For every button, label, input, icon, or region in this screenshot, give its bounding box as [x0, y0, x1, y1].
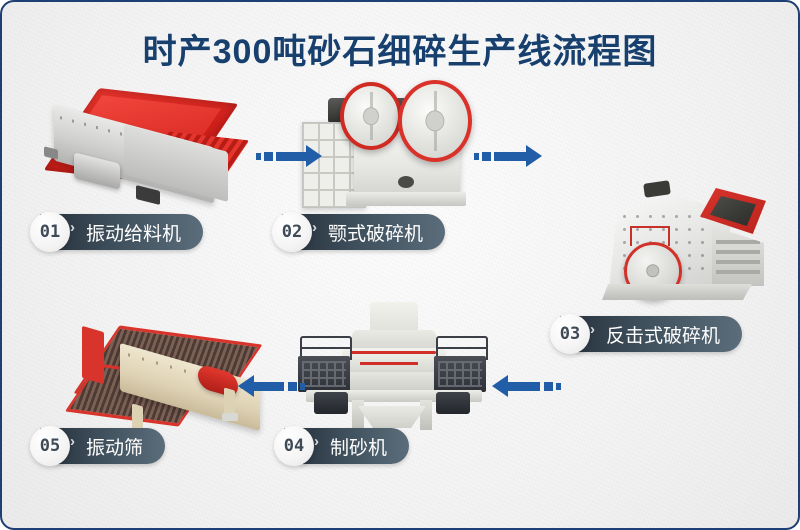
- step-badge-01: 01: [30, 212, 70, 252]
- screen-foot-rear: [222, 413, 238, 421]
- arrow-jaw-to-impact: [474, 145, 542, 167]
- page-title: 时产300吨砂石细碎生产线流程图: [2, 24, 798, 73]
- vsi-red-stripe: [350, 351, 436, 354]
- vsi-discharge-cone: [358, 406, 426, 428]
- arrow-shaft: [276, 152, 306, 161]
- arrow-sand-to-screen: [238, 375, 308, 397]
- screen-end-rail: [82, 326, 104, 384]
- chevron-right-icon: ›: [590, 321, 595, 338]
- chevron-right-icon: ›: [70, 219, 75, 236]
- arrow-head: [492, 375, 508, 397]
- step-label-text-04: 制砂机: [330, 433, 387, 460]
- jaw-flywheel-rear: [340, 82, 402, 150]
- vsi-leg-right: [420, 400, 432, 430]
- arrow-dash-small: [256, 153, 261, 160]
- arrow-dash-small: [300, 383, 305, 390]
- jaw-base-frame: [346, 192, 466, 206]
- arrow-shaft: [508, 382, 540, 391]
- jaw-discharge-opening: [398, 176, 414, 188]
- step-label-pill-02[interactable]: › 颚式破碎机: [298, 214, 445, 250]
- step-label-pill-01[interactable]: › 振动给料机: [56, 214, 203, 250]
- arrow-dash-small: [474, 153, 479, 160]
- vsi-platform-right: [434, 356, 486, 392]
- arrow-head: [306, 145, 322, 167]
- step-badge-02: 02: [272, 212, 312, 252]
- vsi-motor-left: [314, 392, 348, 414]
- machine-impact-crusher: [592, 174, 772, 322]
- jaw-flywheel-front: [398, 80, 472, 162]
- step-05[interactable]: 05 › 振动筛: [30, 426, 165, 466]
- step-badge-04: 04: [274, 426, 314, 466]
- chevron-right-icon: ›: [70, 433, 75, 450]
- vsi-motor-right: [436, 392, 470, 414]
- step-label-text-01: 振动给料机: [86, 219, 181, 246]
- impact-side-panel: [712, 226, 764, 286]
- machine-sand-making-machine: [292, 302, 492, 432]
- step-label-pill-03[interactable]: › 反击式破碎机: [576, 316, 742, 352]
- step-badge-05: 05: [30, 426, 70, 466]
- arrow-dash-small: [556, 383, 561, 390]
- step-badge-03: 03: [550, 314, 590, 354]
- chevron-right-icon: ›: [314, 433, 319, 450]
- machine-vibrating-feeder: [32, 90, 247, 210]
- arrow-head: [238, 375, 254, 397]
- arrow-head: [526, 145, 542, 167]
- machine-jaw-crusher: [302, 80, 472, 215]
- step-label-text-02: 颚式破碎机: [328, 219, 423, 246]
- flowchart-canvas: 时产300吨砂石细碎生产线流程图: [0, 0, 800, 530]
- arrow-shaft: [494, 152, 526, 161]
- step-label-text-05: 振动筛: [86, 433, 143, 460]
- step-label-pill-04[interactable]: › 制砂机: [300, 428, 409, 464]
- chevron-right-icon: ›: [312, 219, 317, 236]
- step-04[interactable]: 04 › 制砂机: [274, 426, 409, 466]
- arrow-shaft: [254, 382, 284, 391]
- arrow-impact-to-sand: [492, 375, 564, 397]
- step-label-pill-05[interactable]: › 振动筛: [56, 428, 165, 464]
- arrow-dash-large: [482, 152, 491, 161]
- impact-base-frame: [602, 284, 752, 300]
- step-03[interactable]: 03 › 反击式破碎机: [550, 314, 742, 354]
- step-label-text-03: 反击式破碎机: [606, 321, 720, 348]
- vsi-red-stripe-lower: [360, 362, 418, 365]
- step-02[interactable]: 02 › 颚式破碎机: [272, 212, 445, 252]
- feeder-mount: [44, 146, 58, 159]
- arrow-feeder-to-jaw: [256, 145, 322, 167]
- arrow-dash-large: [288, 382, 297, 391]
- step-01[interactable]: 01 › 振动给料机: [30, 212, 203, 252]
- arrow-dash-large: [264, 152, 273, 161]
- arrow-dash-large: [544, 382, 553, 391]
